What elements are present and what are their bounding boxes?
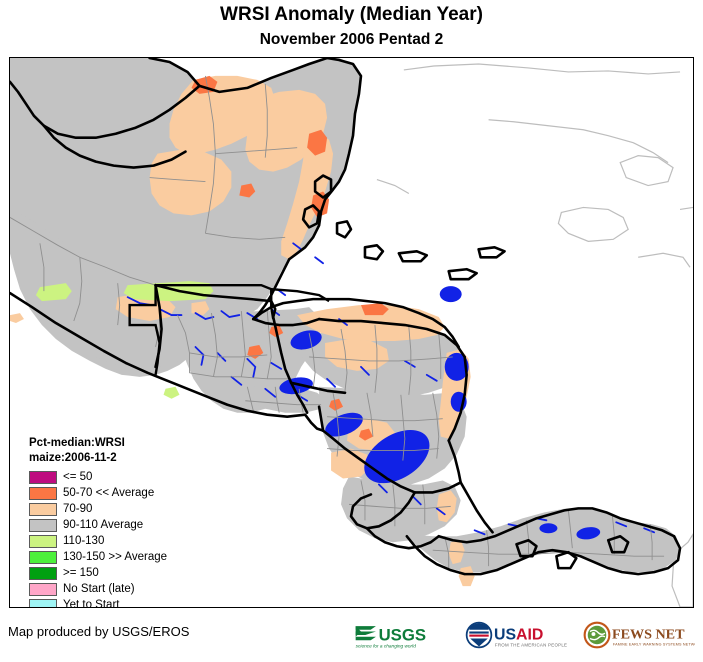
usaid-seal-icon [467, 623, 492, 648]
legend-item-list: <= 50 50-70 << Average 70-90 90-110 Aver… [29, 469, 167, 608]
legend-swatch-icon [29, 535, 57, 548]
map-page: WRSI Anomaly (Median Year) November 2006… [0, 0, 703, 662]
legend-item: 90-110 Average [29, 517, 167, 533]
legend-item: 110-130 [29, 533, 167, 549]
legend-item-label: 50-70 << Average [63, 487, 154, 499]
usaid-logo[interactable]: USAID FROM THE AMERICAN PEOPLE [464, 620, 575, 650]
legend-item-label: >= 150 [63, 567, 99, 579]
legend-title-line2: maize:2006-11-2 [29, 451, 167, 466]
usgs-logo[interactable]: USGS science for a changing world [353, 620, 457, 650]
legend-item: 130-150 >> Average [29, 549, 167, 565]
legend-item: No Start (late) [29, 581, 167, 597]
map-frame[interactable]: Pct-median:WRSI maize:2006-11-2 <= 50 50… [9, 57, 694, 608]
agency-logo-bar: USGS science for a changing world USAID … [353, 620, 695, 650]
legend-swatch-icon [29, 503, 57, 516]
legend-swatch-icon [29, 487, 57, 500]
legend-item: 70-90 [29, 501, 167, 517]
legend-item: >= 150 [29, 565, 167, 581]
map-legend: Pct-median:WRSI maize:2006-11-2 <= 50 50… [29, 436, 167, 608]
legend-item: <= 50 [29, 469, 167, 485]
page-title: WRSI Anomaly (Median Year) [0, 4, 703, 26]
usaid-wordmark: USAID [494, 626, 543, 643]
fewsnet-wordmark: FEWS NET [612, 627, 685, 643]
legend-swatch-icon [29, 519, 57, 532]
legend-item-label: 70-90 [63, 503, 92, 515]
legend-item-label: Yet to Start [63, 599, 119, 608]
legend-title-line1: Pct-median:WRSI [29, 436, 167, 451]
usaid-tagline: FROM THE AMERICAN PEOPLE [495, 642, 567, 647]
legend-swatch-icon [29, 567, 57, 580]
legend-item-label: 110-130 [63, 535, 104, 547]
fewsnet-logo[interactable]: FEWS NET FAMINE EARLY WARNING SYSTEMS NE… [582, 620, 695, 650]
usgs-tagline: science for a changing world [355, 643, 416, 649]
usgs-wordmark: USGS [378, 625, 425, 644]
legend-swatch-icon [29, 599, 57, 609]
fewsnet-tagline: FAMINE EARLY WARNING SYSTEMS NETWORK [613, 643, 695, 647]
legend-swatch-icon [29, 551, 57, 564]
fewsnet-globe-icon [585, 623, 610, 648]
legend-item-label: 130-150 >> Average [63, 551, 167, 563]
legend-item-label: No Start (late) [63, 583, 135, 595]
page-subtitle: November 2006 Pentad 2 [0, 31, 703, 49]
legend-item-label: 90-110 Average [63, 519, 143, 531]
legend-item: 50-70 << Average [29, 485, 167, 501]
legend-swatch-icon [29, 471, 57, 484]
map-credit: Map produced by USGS/EROS [8, 624, 189, 639]
legend-swatch-icon [29, 583, 57, 596]
legend-item: Yet to Start [29, 597, 167, 608]
legend-item-label: <= 50 [63, 471, 92, 483]
